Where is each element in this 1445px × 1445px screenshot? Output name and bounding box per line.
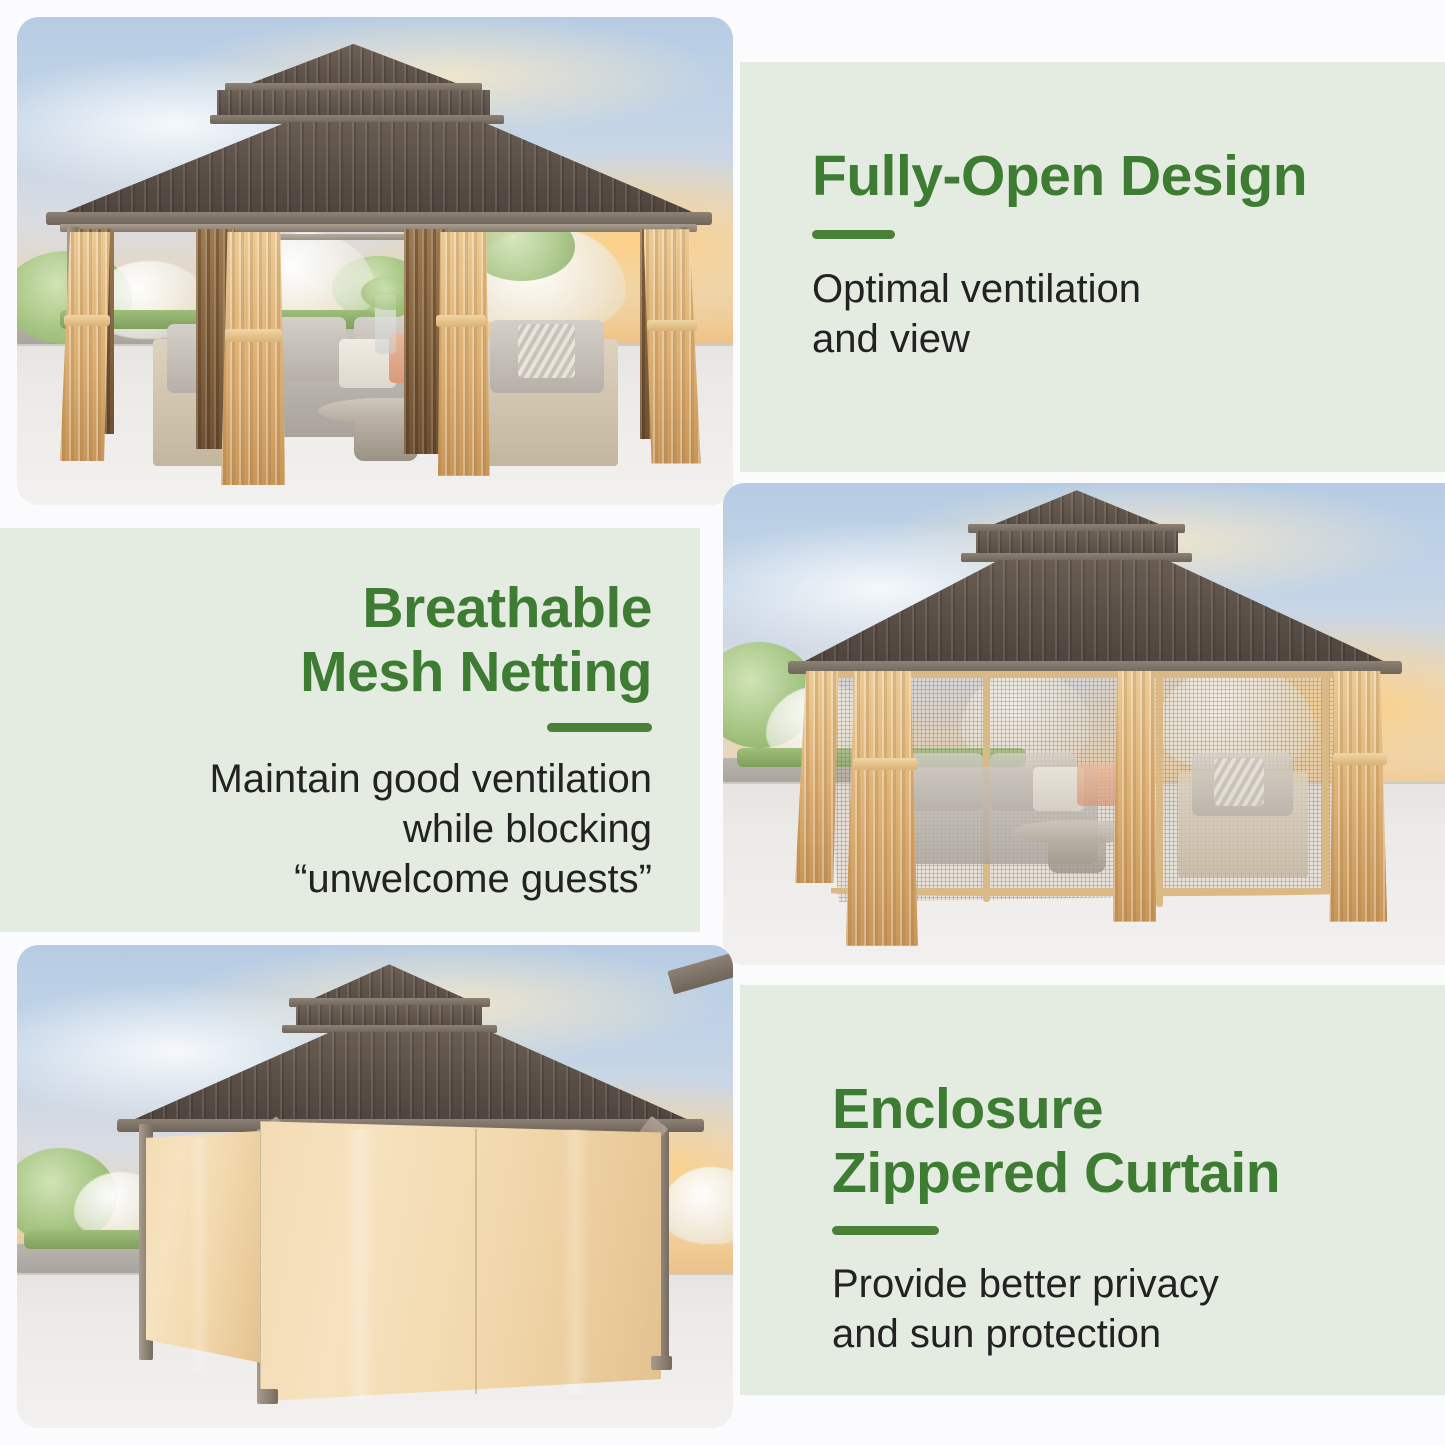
feature-body-line: “unwelcome guests” <box>28 854 652 904</box>
feature-panel-enclosure-zippered-curtain: Enclosure Zippered Curtain Provide bette… <box>740 985 1445 1395</box>
feature-heading-1: Fully-Open Design <box>812 144 1417 208</box>
roof-cupola-vent <box>296 1005 482 1027</box>
mesh-rail-vertical-3 <box>1156 671 1163 907</box>
feature-body-line: Maintain good ventilation <box>28 754 652 804</box>
roof-cupola-vent <box>217 90 489 117</box>
gazebo-scene-open <box>17 17 733 505</box>
curtain-fold-1 <box>346 1129 375 1399</box>
product-image-enclosure-zippered-curtain <box>17 945 733 1428</box>
zippered-curtain-front-wall <box>260 1121 661 1401</box>
feature-body-line: Optimal ventilation <box>812 264 1417 314</box>
curtain-center-right <box>436 232 490 476</box>
mesh-rail-vertical-4 <box>1322 671 1329 893</box>
post-foot-center <box>257 1389 278 1403</box>
heading-divider-1 <box>812 230 895 239</box>
feature-heading-line: Enclosure <box>832 1077 1421 1141</box>
curtain-tieback-right <box>1333 753 1387 766</box>
gazebo-scene-closed <box>17 945 733 1428</box>
pillow-terracotta <box>1077 763 1120 806</box>
feature-body-2: Maintain good ventilation while blocking… <box>28 754 652 904</box>
heading-divider-2 <box>547 723 652 732</box>
feature-body-1: Optimal ventilation and view <box>812 264 1417 364</box>
feature-text-block-3: Enclosure Zippered Curtain Provide bette… <box>832 1077 1421 1359</box>
product-image-breathable-mesh-netting <box>723 483 1445 965</box>
roof-main-eave <box>46 212 712 225</box>
roof-fascia <box>60 224 697 232</box>
feature-panel-breathable-mesh-netting: Breathable Mesh Netting Maintain good ve… <box>0 528 700 932</box>
infographic-page: Fully-Open Design Optimal ventilation an… <box>0 0 1445 1445</box>
feature-heading-line: Breathable <box>28 576 652 640</box>
curtain-tieback-right <box>647 320 697 332</box>
feature-body-line: Provide better privacy <box>832 1259 1421 1309</box>
gazebo-scene-mesh <box>723 483 1445 965</box>
curtain-fold-2 <box>561 1129 590 1395</box>
coffee-table-base <box>1048 835 1106 874</box>
heading-divider-3 <box>832 1226 939 1235</box>
curtain-center-left <box>221 232 285 486</box>
feature-body-line: and view <box>812 314 1417 364</box>
pillow-striped <box>518 324 575 378</box>
feature-body-line: and sun protection <box>832 1309 1421 1359</box>
feature-body-line: while blocking <box>28 804 652 854</box>
feature-heading-line: Zippered Curtain <box>832 1141 1421 1205</box>
curtain-tieback-left <box>853 758 918 771</box>
feature-body-3: Provide better privacy and sun protectio… <box>832 1259 1421 1359</box>
curtain-left-inner <box>846 671 918 946</box>
feature-heading-3: Enclosure Zippered Curtain <box>832 1077 1421 1206</box>
feature-heading-line: Mesh Netting <box>28 640 652 704</box>
curtain-tieback-left <box>64 315 111 327</box>
curtain-tieback-center-right <box>436 315 486 328</box>
curtain-zipper-seam <box>475 1129 477 1395</box>
roof-cupola-vent <box>976 531 1178 555</box>
feature-text-block-1: Fully-Open Design Optimal ventilation an… <box>812 144 1417 364</box>
feature-text-block-2: Breathable Mesh Netting Maintain good ve… <box>28 576 652 904</box>
curtain-right-outer <box>1329 671 1387 922</box>
product-image-fully-open-design <box>17 17 733 505</box>
pillow-striped <box>1214 758 1265 806</box>
feature-heading-2: Breathable Mesh Netting <box>28 576 652 705</box>
post-foot-right <box>651 1356 672 1370</box>
curtain-tieback-center-left <box>225 329 282 342</box>
curtain-center <box>1113 671 1156 922</box>
feature-panel-fully-open-design: Fully-Open Design Optimal ventilation an… <box>740 62 1445 472</box>
curtain-fold-3 <box>189 1138 210 1370</box>
